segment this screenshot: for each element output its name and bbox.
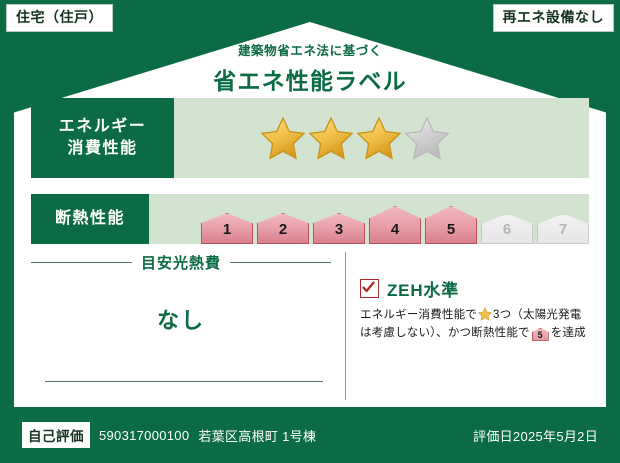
zeh-desc-stars: 3つ（太陽光発電: [493, 309, 582, 321]
star-rating: [174, 115, 450, 161]
grade-value: 2: [279, 221, 287, 238]
insulation-performance-value: 1234567: [149, 194, 589, 244]
utility-cost-panel: 目安光熱費 なし: [31, 252, 331, 400]
title-block: 建築物省エネ法に基づく 省エネ性能ラベル: [0, 40, 620, 96]
tab-renewable-energy: 再エネ設備なし: [493, 4, 615, 32]
energy-performance-label: 住宅（住戸） 再エネ設備なし 建築物省エネ法に基づく 省エネ性能ラベル エネルギ…: [0, 0, 620, 463]
insulation-grade-7: 7: [537, 214, 589, 244]
grade-value: 1: [223, 221, 231, 238]
checkmark-icon: [360, 279, 379, 298]
property-address: 若葉区高根町 1号棟: [198, 426, 316, 445]
zeh-heading: ZEH水準: [360, 276, 589, 301]
cost-rule-left: [31, 262, 132, 263]
cost-rule-right: [230, 262, 331, 263]
grade-value: 7: [559, 221, 567, 238]
grade-value: 6: [503, 221, 511, 238]
star-filled-icon: [260, 115, 306, 161]
insulation-grade-2: 2: [257, 213, 309, 244]
utility-cost-value: なし: [31, 303, 331, 335]
energy-label-line2: 消費性能: [67, 138, 137, 160]
energy-performance-value: [174, 98, 589, 178]
energy-label-line1: エネルギー: [59, 116, 147, 138]
utility-cost-heading: 目安光熱費: [31, 252, 331, 272]
star-filled-icon: [356, 115, 402, 161]
insulation-grade-5: 5: [425, 206, 477, 244]
insulation-performance-label: 断熱性能: [31, 194, 149, 244]
page-title: 省エネ性能ラベル: [0, 62, 620, 96]
insulation-grade-4: 4: [369, 206, 421, 244]
footer-content: 自己評価 590317000100 若葉区高根町 1号棟 評価日2025年5月2…: [0, 422, 620, 448]
zeh-description: エネルギー消費性能で3つ（太陽光発電 は考慮しない）、かつ断熱性能で5を達成: [360, 307, 589, 343]
insulation-grade-3: 3: [313, 213, 365, 244]
bottom-section: 目安光熱費 なし ZEH水準 エネルギー消費性能で3つ（太陽光発電 は考慮しない…: [31, 252, 589, 400]
cost-bottom-rule: [45, 381, 323, 382]
inline-grade-value: 5: [532, 328, 549, 343]
inline-grade-badge: 5: [532, 328, 549, 341]
evaluation-date: 評価日2025年5月2日: [473, 426, 598, 445]
grade-value: 5: [447, 221, 455, 238]
zeh-desc-part2: は考慮しない）、かつ断熱性能で: [360, 327, 530, 339]
tab-building-type: 住宅（住戸）: [6, 4, 113, 32]
zeh-panel: ZEH水準 エネルギー消費性能で3つ（太陽光発電 は考慮しない）、かつ断熱性能で…: [360, 252, 589, 400]
section-divider: [345, 252, 346, 400]
insulation-grade-1: 1: [201, 213, 253, 244]
certificate-id: 590317000100: [99, 428, 189, 443]
zeh-desc-part1: エネルギー消費性能で: [360, 309, 477, 321]
title-subtitle: 建築物省エネ法に基づく: [0, 40, 620, 59]
energy-performance-row: エネルギー 消費性能: [31, 98, 589, 178]
self-assessment-badge: 自己評価: [22, 422, 90, 448]
grade-value: 3: [335, 221, 343, 238]
grade-value: 4: [391, 221, 399, 238]
star-filled-icon: [308, 115, 354, 161]
insulation-grade-scale: 1234567: [149, 194, 589, 244]
energy-performance-label: エネルギー 消費性能: [31, 98, 174, 178]
zeh-title: ZEH水準: [387, 276, 459, 301]
footer-bar: 自己評価 590317000100 若葉区高根町 1号棟 評価日2025年5月2…: [0, 407, 620, 463]
inline-star-icon: [478, 307, 492, 321]
star-empty-icon: [404, 115, 450, 161]
utility-cost-title: 目安光熱費: [132, 252, 230, 273]
insulation-grade-6: 6: [481, 214, 533, 244]
zeh-desc-part3: を達成: [551, 327, 586, 339]
insulation-performance-row: 断熱性能 1234567: [31, 194, 589, 244]
